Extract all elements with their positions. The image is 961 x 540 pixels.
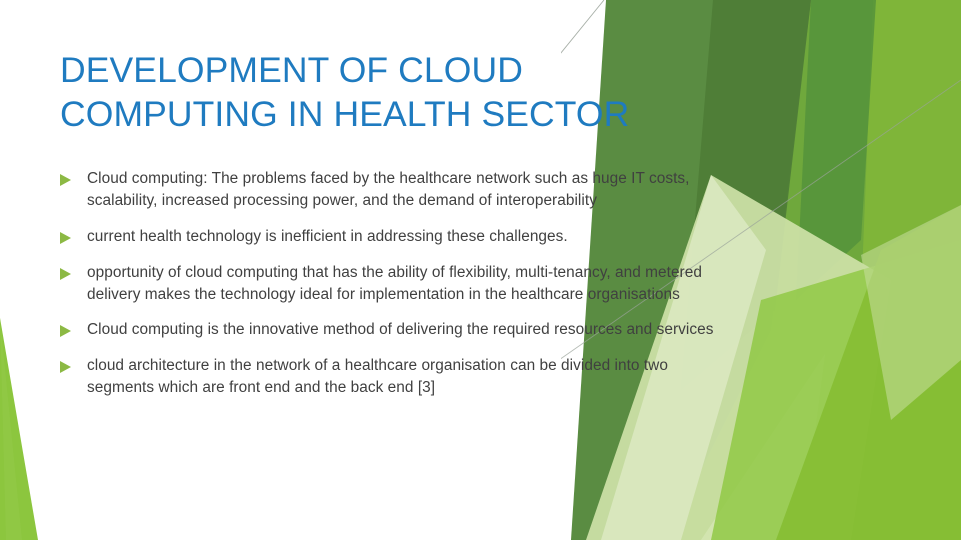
left-wedge-shape-highlight [0, 318, 22, 540]
page-title: DEVELOPMENT OF CLOUD COMPUTING IN HEALTH… [60, 48, 700, 137]
list-item-text: Cloud computing: The problems faced by t… [87, 168, 732, 212]
triangle-right-icon [60, 232, 71, 244]
triangle-right-icon [60, 268, 71, 280]
left-wedge-shape [0, 318, 38, 540]
triangle-right-icon [60, 361, 71, 373]
title-block: DEVELOPMENT OF CLOUD COMPUTING IN HEALTH… [60, 48, 700, 137]
polygon-dark-wedge-top [796, 0, 876, 300]
triangle-right-icon [60, 325, 71, 337]
list-item-text: Cloud computing is the innovative method… [87, 319, 732, 341]
polygon-chartreuse-corner [776, 205, 961, 540]
list-item-text: cloud architecture in the network of a h… [87, 355, 732, 399]
presentation-slide: DEVELOPMENT OF CLOUD COMPUTING IN HEALTH… [0, 0, 961, 540]
polygon-bright-right [801, 0, 961, 540]
polygon-pale-right [861, 205, 961, 420]
list-item: Cloud computing is the innovative method… [60, 319, 732, 341]
triangle-right-icon [60, 174, 71, 186]
list-item-text: opportunity of cloud computing that has … [87, 262, 732, 306]
list-item-text: current health technology is inefficient… [87, 226, 732, 248]
list-item: Cloud computing: The problems faced by t… [60, 168, 732, 212]
polygon-light-overlay [711, 240, 961, 540]
list-item: cloud architecture in the network of a h… [60, 355, 732, 399]
list-item: opportunity of cloud computing that has … [60, 262, 732, 306]
bullet-list: Cloud computing: The problems faced by t… [60, 168, 732, 399]
list-item: current health technology is inefficient… [60, 226, 732, 248]
